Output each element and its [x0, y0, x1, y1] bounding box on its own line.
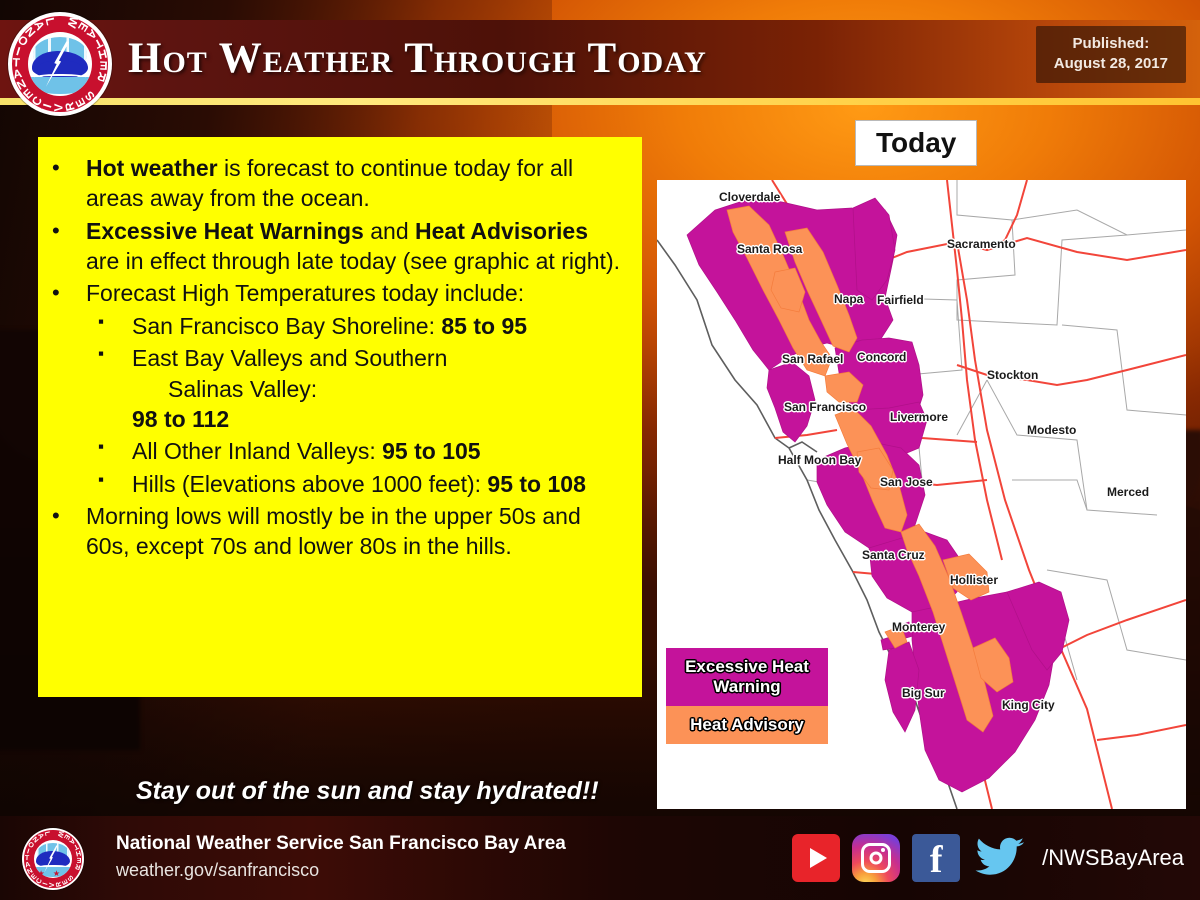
nws-logo-footer: ★ ★ ★ NATIONALWEATHERSERVICE — [22, 828, 84, 890]
play-triangle — [810, 848, 827, 868]
map-day-badge: Today — [855, 120, 977, 166]
bullet-text-bold: Excessive Heat Warnings — [86, 218, 370, 244]
bullet-text-plain: San Francisco Bay Shoreline: — [132, 313, 441, 339]
bullet-item: •Hot weather is forecast to continue tod… — [52, 153, 624, 214]
bullet-text-bold: 85 to 95 — [441, 313, 527, 339]
legend-excessive-heat-warning: Excessive Heat Warning — [666, 648, 828, 706]
bullet-text-plain: All Other Inland Valleys: — [132, 438, 382, 464]
bullet-text-bold: Hot weather — [86, 155, 224, 181]
bullet-text: Hills (Elevations above 1000 feet): 95 t… — [132, 469, 624, 499]
bullet-text-plain: are in effect through late today (see gr… — [86, 248, 620, 274]
bullet-text: Hot weather is forecast to continue toda… — [86, 153, 624, 214]
bullet-text: East Bay Valleys and Southern Salinas Va… — [132, 343, 624, 434]
published-date: August 28, 2017 — [1054, 54, 1168, 74]
bullet-text-plain: East Bay Valleys and Southern — [132, 345, 447, 371]
bullet-text-plain: Morning lows will mostly be in the upper… — [86, 503, 581, 559]
facebook-icon[interactable]: f — [912, 834, 960, 882]
sub-bullet-item: ▪Hills (Elevations above 1000 feet): 95 … — [52, 469, 624, 499]
bullet-text-bold: 98 to 112 — [132, 406, 229, 432]
legend-heat-advisory: Heat Advisory — [666, 706, 828, 744]
bullet-text-bold: Heat Advisories — [415, 218, 588, 244]
bullet-item: •Excessive Heat Warnings and Heat Adviso… — [52, 216, 624, 277]
square-bullet-icon: ▪ — [98, 469, 132, 499]
published-label: Published: — [1054, 34, 1168, 54]
social-handle: /NWSBayArea — [1042, 845, 1184, 871]
social-links: f /NWSBayArea — [792, 834, 1184, 882]
facebook-f: f — [930, 841, 943, 879]
sub-bullet-item: ▪San Francisco Bay Shoreline: 85 to 95 — [52, 311, 624, 341]
bullet-text-plain: and — [370, 218, 415, 244]
forecast-bullet-panel: •Hot weather is forecast to continue tod… — [38, 137, 642, 697]
bullet-item: •Forecast High Temperatures today includ… — [52, 278, 624, 308]
logo-circular-text: NATIONALWEATHERSERVICE — [22, 828, 84, 890]
sub-bullet-item: ▪All Other Inland Valleys: 95 to 105 — [52, 436, 624, 466]
bullet-text: Forecast High Temperatures today include… — [86, 278, 624, 308]
bullet-text-plain: Hills (Elevations above 1000 feet): — [132, 471, 487, 497]
instagram-square — [861, 843, 891, 873]
footer-bar: ★ ★ ★ NATIONALWEATHERSERVICE National We… — [0, 816, 1200, 900]
bullet-text: All Other Inland Valleys: 95 to 105 — [132, 436, 624, 466]
map-legend: Excessive Heat Warning Heat Advisory — [666, 648, 828, 744]
page-title: Hot Weather Through Today — [128, 34, 707, 83]
square-bullet-icon: ▪ — [98, 343, 132, 434]
bullet-text: Morning lows will mostly be in the upper… — [86, 501, 624, 562]
instagram-icon[interactable] — [852, 834, 900, 882]
instagram-lens — [870, 852, 883, 865]
sub-bullet-item: ▪East Bay Valleys and Southern Salinas V… — [52, 343, 624, 434]
round-bullet-icon: • — [52, 278, 86, 308]
square-bullet-icon: ▪ — [98, 311, 132, 341]
bullet-text-plain: Forecast High Temperatures today include… — [86, 280, 524, 306]
twitter-bird — [975, 837, 1025, 879]
logo-circular-text: NATIONALWEATHERSERVICE — [8, 12, 112, 116]
office-url[interactable]: weather.gov/sanfrancisco — [116, 860, 319, 881]
instagram-dot — [881, 848, 885, 852]
office-name: National Weather Service San Francisco B… — [116, 833, 566, 855]
nws-logo-header: ★ ★ ★ NATIONALWEATHERSERVICE — [8, 12, 112, 116]
bullet-text: Excessive Heat Warnings and Heat Advisor… — [86, 216, 624, 277]
twitter-icon[interactable] — [972, 834, 1028, 882]
safety-tagline: Stay out of the sun and stay hydrated!! — [136, 777, 599, 806]
round-bullet-icon: • — [52, 501, 86, 562]
header-underline — [0, 98, 1200, 105]
bullet-text: San Francisco Bay Shoreline: 85 to 95 — [132, 311, 624, 341]
youtube-icon[interactable] — [792, 834, 840, 882]
bullet-text-plain: Salinas Valley: — [132, 374, 624, 404]
bullet-text-bold: 95 to 108 — [487, 471, 585, 497]
round-bullet-icon: • — [52, 153, 86, 214]
bullet-item: •Morning lows will mostly be in the uppe… — [52, 501, 624, 562]
published-box: Published: August 28, 2017 — [1036, 26, 1186, 83]
round-bullet-icon: • — [52, 216, 86, 277]
bullet-text-bold: 95 to 105 — [382, 438, 480, 464]
square-bullet-icon: ▪ — [98, 436, 132, 466]
